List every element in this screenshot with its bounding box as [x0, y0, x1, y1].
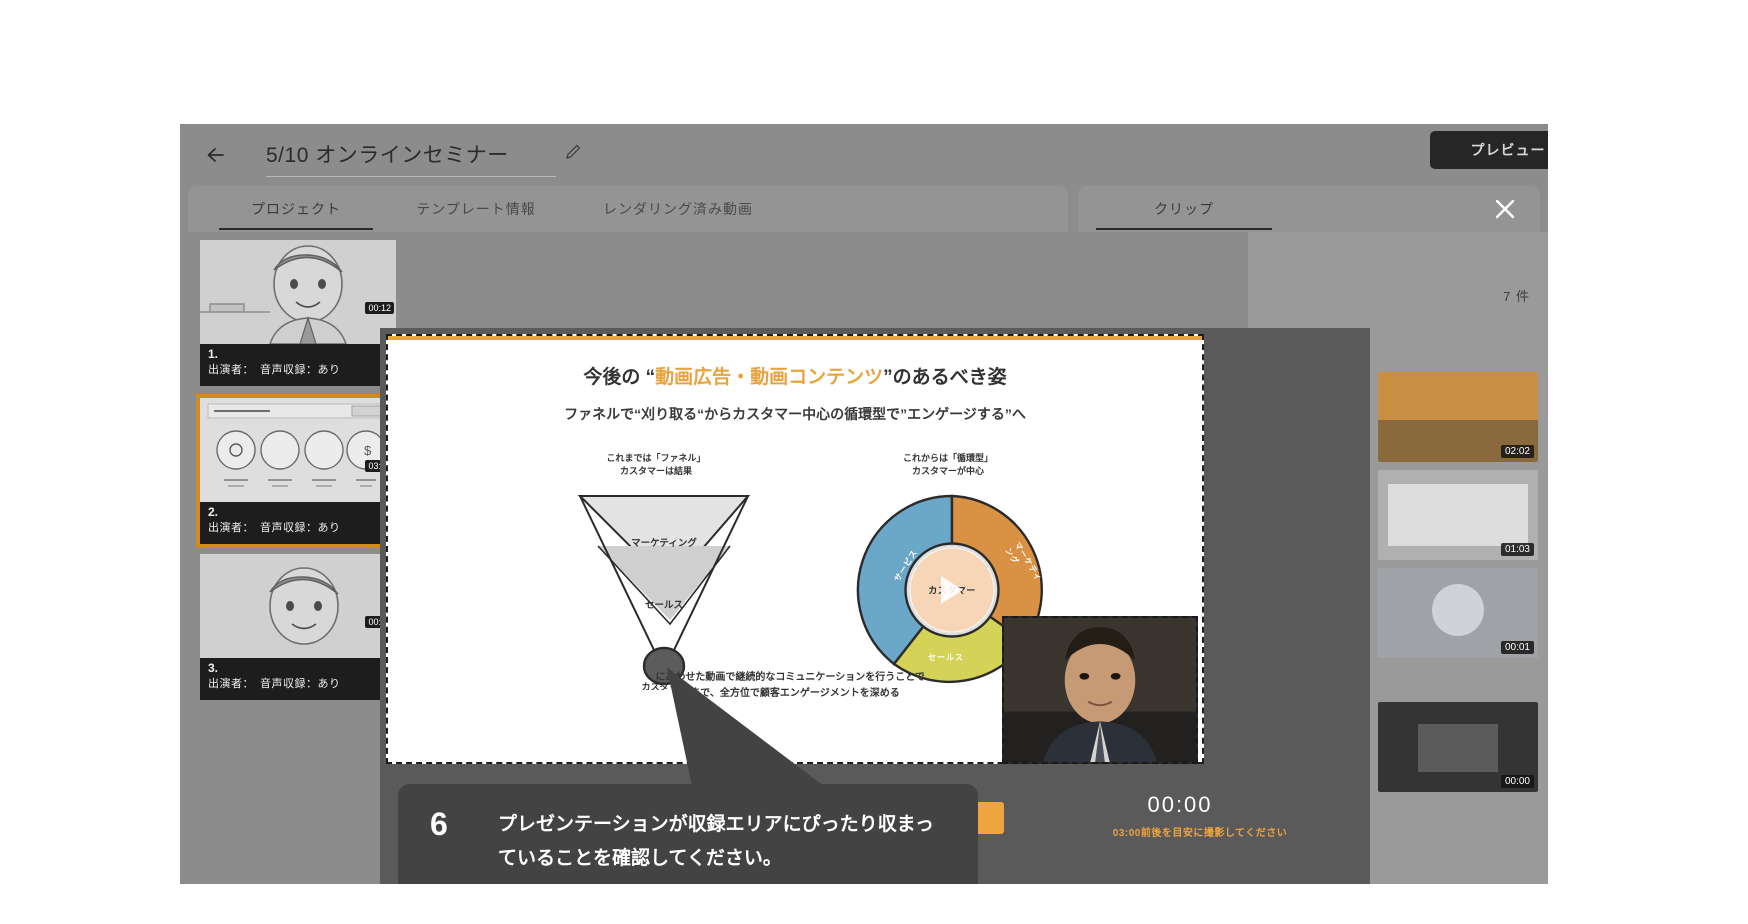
scene-thumbnail-3-info: 出演者： 音声収録：あり — [208, 676, 388, 692]
scene-thumbnail-3[interactable]: 00:45 3. 出演者： 音声収録：あり — [200, 554, 396, 700]
slide-title: 今後の “動画広告・動画コンテンツ”のあるべき姿 — [388, 362, 1202, 389]
close-icon[interactable] — [1488, 192, 1522, 226]
scene-thumbnail-1-info: 出演者： 音声収録：あり — [208, 362, 388, 378]
scene-thumbnail-2-number: 2. — [208, 505, 388, 520]
tab-group-left: プロジェクト テンプレート情報 レンダリング済み動画 — [188, 186, 1068, 232]
tab-project-label: プロジェクト — [251, 199, 341, 219]
clip-card-3-duration: 00:01 — [1501, 641, 1534, 654]
scene-thumbnail-2-image: $ 03:00 — [200, 398, 396, 502]
recording-timer: 00:00 — [1060, 792, 1300, 818]
clip-card-3[interactable]: 00:01 — [1378, 568, 1538, 658]
funnel-label-marketing: マーケティング — [631, 537, 697, 549]
tab-template-info[interactable]: テンプレート情報 — [388, 186, 564, 232]
clip-card-4[interactable]: 00:00 — [1378, 702, 1538, 792]
cycle-diagram-heading: これからは「循環型」カスタマーが中心 — [848, 452, 1048, 478]
scene-thumbnail-3-meta: 3. 出演者： 音声収録：あり — [200, 658, 396, 700]
play-icon[interactable] — [941, 576, 963, 604]
slide-title-suffix: ”のあるべき姿 — [883, 367, 1007, 388]
tab-group-right: クリップ — [1078, 186, 1540, 232]
scene-thumbnail-2-info: 出演者： 音声収録：あり — [208, 520, 388, 536]
coachmark-text: プレゼンテーションが収録エリアにぴったり収まっていることを確認してください。 — [498, 808, 948, 876]
scene-thumbnail-1-meta: 1. 出演者： 音声収録：あり — [200, 344, 396, 386]
clip-card-1[interactable]: 02:02 — [1378, 372, 1538, 462]
slide-title-prefix: 今後の “ — [583, 367, 655, 388]
presenter-video-pip[interactable] — [1002, 616, 1198, 764]
scene-thumbnail-2[interactable]: $ 03:00 2. 出演者： 音声収録：あり — [196, 394, 400, 548]
funnel-diagram-heading: これまでは「ファネル」カスタマーは結果 — [556, 452, 756, 478]
clip-card-2-duration: 01:03 — [1501, 543, 1534, 556]
clip-card-2[interactable]: 01:03 — [1378, 470, 1538, 560]
scene-thumbnail-3-number: 3. — [208, 661, 388, 676]
tab-project[interactable]: プロジェクト — [208, 186, 384, 232]
back-arrow-icon[interactable] — [202, 140, 232, 170]
slide-subtitle: ファネルで“刈り取る“からカスタマー中心の循環型で”エンゲージする”へ — [388, 404, 1202, 424]
pencil-icon[interactable] — [564, 143, 582, 161]
preview-button[interactable]: プレビュー — [1430, 131, 1548, 169]
recording-timer-hint: 03:00前後を目安に撮影してください — [1050, 824, 1350, 839]
clip-count-label: 7 件 — [1503, 286, 1530, 305]
page-title: 5/10 オンラインセミナー — [266, 139, 509, 169]
app-header: 5/10 オンラインセミナー プレビュー — [180, 124, 1548, 186]
slide-title-highlight: 動画広告・動画コンテンツ — [655, 367, 883, 388]
scene-thumbnail-1-number: 1. — [208, 347, 388, 362]
scene-thumbnail-3-image: 00:45 — [200, 554, 396, 658]
clip-card-1-duration: 02:02 — [1501, 445, 1534, 458]
tab-strip: プロジェクト テンプレート情報 レンダリング済み動画 クリップ — [180, 186, 1548, 232]
coachmark-step-number: 6 — [430, 806, 448, 843]
scene-thumbnail-1[interactable]: 00:12 1. 出演者： 音声収録：あり — [200, 240, 396, 386]
scene-thumbnail-1-duration: 00:12 — [365, 302, 394, 314]
tab-template-info-label: テンプレート情報 — [416, 199, 536, 219]
funnel-label-sales: セールス — [645, 600, 683, 611]
scene-thumbnail-rail[interactable]: 00:12 1. 出演者： 音声収録：あり — [188, 232, 406, 884]
cycle-label-sales: セールス — [928, 652, 964, 663]
tab-clip[interactable]: クリップ — [1084, 186, 1284, 232]
scene-thumbnail-1-image: 00:12 — [200, 240, 396, 344]
tab-rendered-video-label: レンダリング済み動画 — [603, 199, 753, 219]
preview-button-label: プレビュー — [1471, 140, 1546, 160]
svg-text:$: $ — [364, 443, 372, 458]
tab-clip-label: クリップ — [1154, 199, 1214, 219]
project-title-field[interactable]: 5/10 オンラインセミナー — [266, 132, 556, 177]
clip-card-4-duration: 00:00 — [1501, 775, 1534, 788]
tab-rendered-video[interactable]: レンダリング済み動画 — [568, 186, 788, 232]
scene-thumbnail-2-meta: 2. 出演者： 音声収録：あり — [200, 502, 396, 544]
app-window: 5/10 オンラインセミナー プレビュー プロジェクト テンプレート情報 レンダ… — [180, 124, 1548, 884]
coachmark-tooltip: 6 プレゼンテーションが収録エリアにぴったり収まっていることを確認してください。 — [398, 784, 978, 884]
